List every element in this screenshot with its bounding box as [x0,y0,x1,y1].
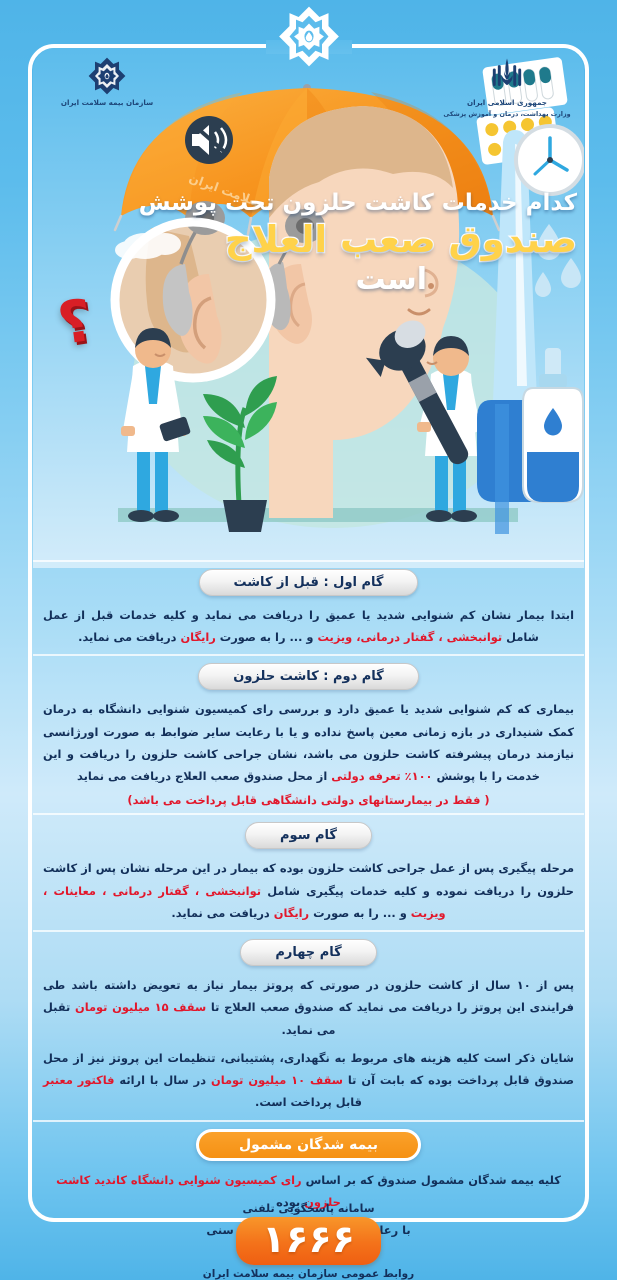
insured-pill[interactable]: بیمه شدگان مشمول [196,1129,421,1161]
wall-clock-icon [516,126,584,194]
infographic-poster: سازمان بیمه سلامت ایران جمهوری اسلامی ای… [0,0,617,1280]
body-text: و ... را به صورت [216,630,314,644]
step-2-pill[interactable]: گام دوم : کاشت حلزون [198,663,418,690]
divider [33,930,584,932]
step-2-note: ( فقط در بیمارستانهای دولتی دانشگاهی قاب… [33,793,584,813]
step-4-paragraph-1: پس از ۱۰ سال از کاشت حلزون در صورتی که پ… [33,974,584,1047]
body-text: کلیه بیمه شدگان مشمول صندوق که بر اساس [302,1173,561,1187]
divider [33,560,584,562]
health-insurance-star-emblem-icon [276,4,342,82]
body-text: از محل صندوق صعب العلاج دریافت می نماید [77,769,327,783]
divider [33,654,584,656]
accent-text: توانبخشی ، گفتار درمانی، ویزیت [314,630,503,644]
divider [33,813,584,815]
body-text: در سال با ارائه [115,1073,207,1087]
step-1-pill[interactable]: گام اول : قبل از کاشت [199,569,419,596]
step-1-paragraph: ابتدا بیمار نشان کم شنوایی شدید یا عمیق … [33,604,584,654]
step-4-header: گام چهارم [33,939,584,966]
content-area: گام اول : قبل از کاشت ابتدا بیمار نشان ک… [33,560,584,1218]
left-logo: سازمان بیمه سلامت ایران [48,56,166,108]
accent-text: سقف ۱۵ میلیون تومان [70,1000,206,1014]
step-1-header: گام اول : قبل از کاشت [33,569,584,596]
hotline-label: سامانه پاسخگویی تلفنی [0,1202,617,1215]
body-text: دریافت می نماید. [78,630,176,644]
body-text: و ... را به صورت [309,906,407,920]
body-text: قابل پرداخت است. [255,1095,362,1109]
right-logo-caption-line1: جمهوری اسلامی ایران [467,98,547,108]
step-3-paragraph: مرحله پیگیری پس از عمل جراحی کاشت حلزون … [33,857,584,930]
step-2-header: گام دوم : کاشت حلزون [33,663,584,690]
hotline-number: ۱۶۶۶ [262,1219,355,1260]
right-logo-caption-line2: وزارت بهداشت، درمان و آموزش پزشکی [443,110,570,119]
step-3-pill[interactable]: گام سوم [245,822,372,849]
insured-header: بیمه شدگان مشمول [33,1129,584,1161]
left-logo-caption: سازمان بیمه سلامت ایران [61,98,153,108]
divider [33,1120,584,1122]
step-4-pill[interactable]: گام چهارم [240,939,376,966]
iran-health-insurance-star-icon [87,56,127,96]
step-4-paragraph-2: شایان ذکر است کلیه هزینه های مربوط به نگ… [33,1047,584,1120]
accent-text: فاکتور معتبر [43,1073,115,1087]
illustration-stage: سازمان بیمه سلامت ایران [33,48,584,568]
accent-text: رایگان [176,630,215,644]
right-logo: جمهوری اسلامی ایران وزارت بهداشت، درمان … [437,56,577,120]
hotline-badge[interactable]: ۱۶۶۶ [236,1217,381,1265]
accent-text: ۱۰۰٪ تعرفه دولتی [327,769,432,783]
step-2-paragraph: بیماری که کم شنوایی شدید یا عمیق دارد و … [33,698,584,793]
footer-organization: روابط عمومی سازمان بیمه سلامت ایران [0,1268,617,1280]
body-text: دریافت می نماید. [171,906,269,920]
accent-text: سقف ۱۰ میلیون تومان [206,1073,343,1087]
accent-text: رایگان [270,906,309,920]
footer: سامانه پاسخگویی تلفنی ۱۶۶۶ روابط عمومی س… [0,1202,617,1280]
step-3-header: گام سوم [33,822,584,849]
sound-off-speaker-icon [185,116,233,164]
iran-national-allah-emblem-icon [490,56,524,96]
